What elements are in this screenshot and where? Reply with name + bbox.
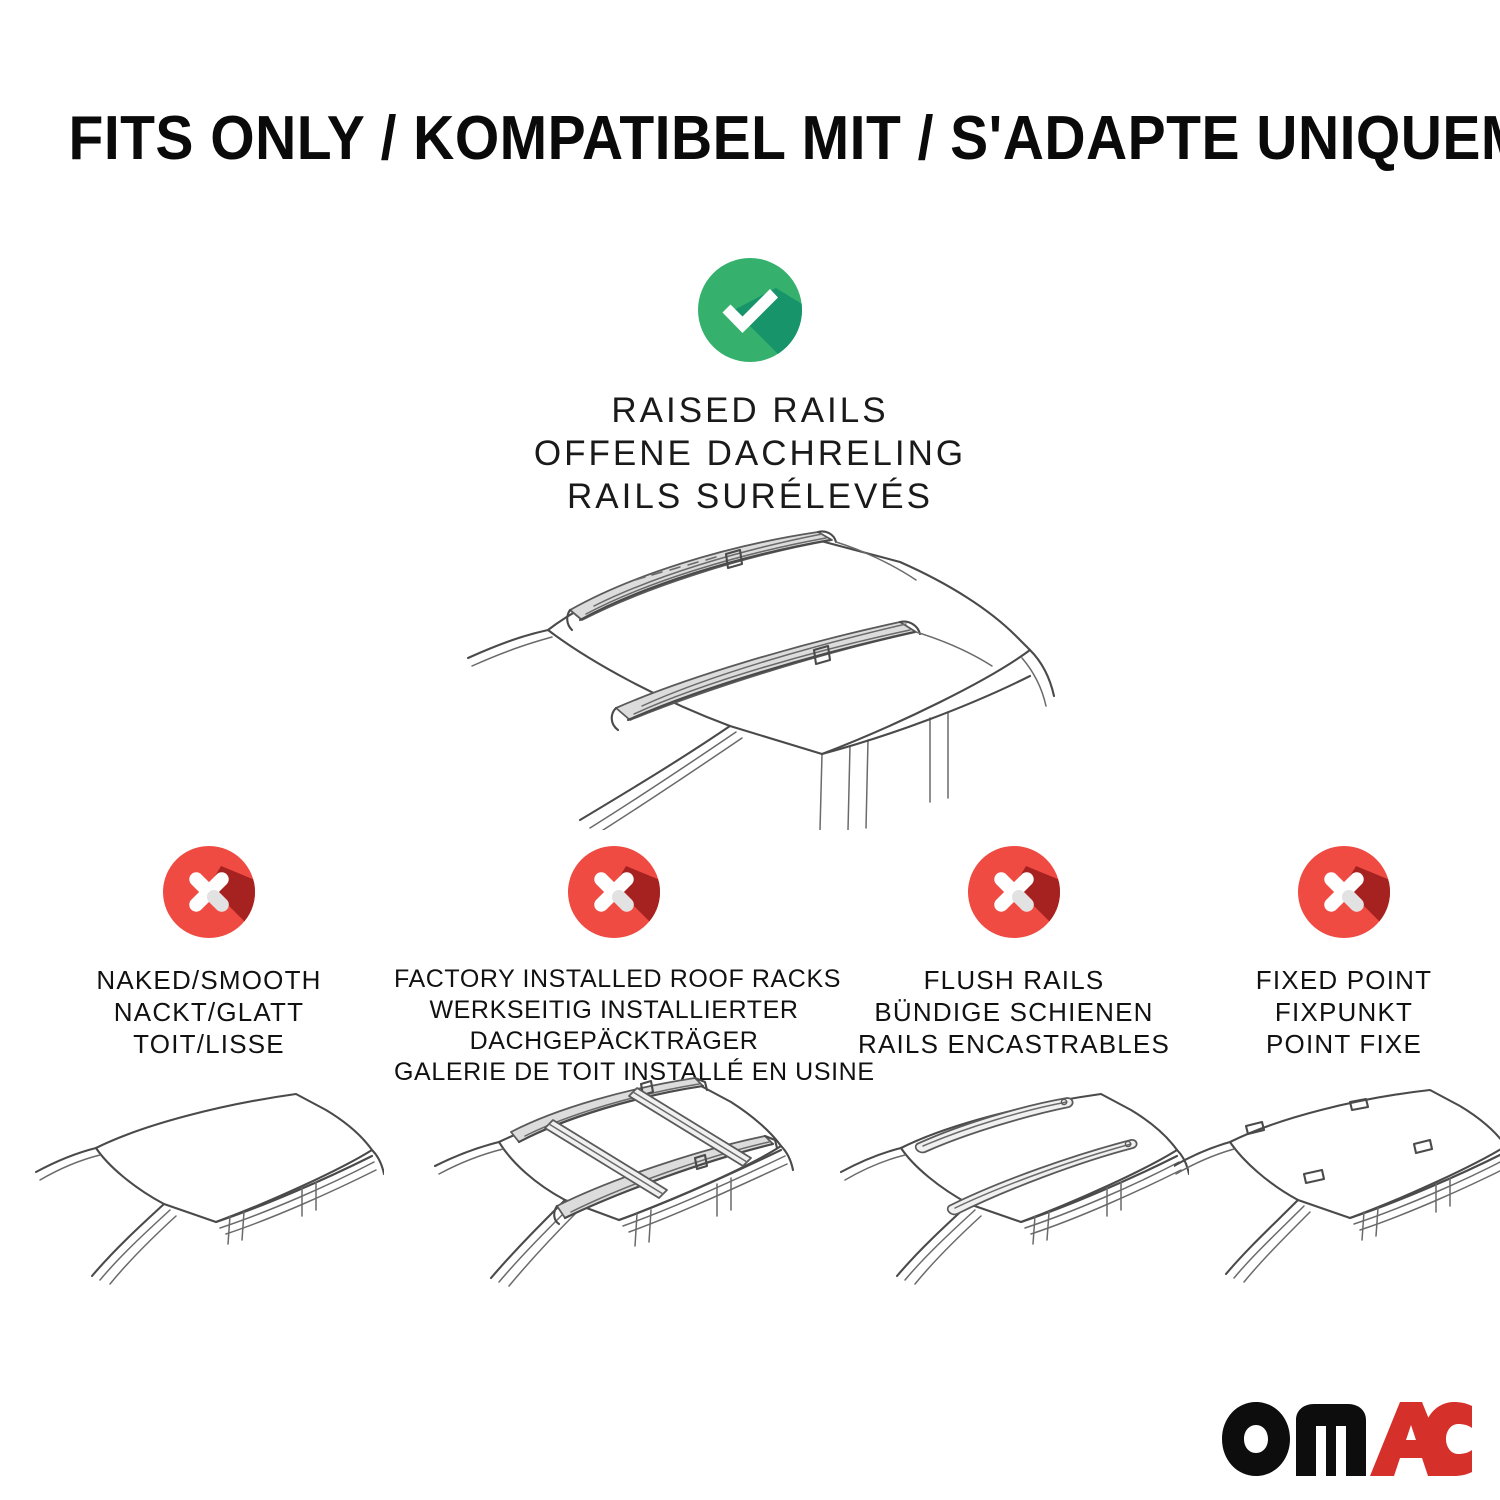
- incompatible-labels-factory-roof-racks: FACTORY INSTALLED ROOF RACKS WERKSEITIG …: [394, 964, 834, 1088]
- omac-logo-mark: [1220, 1400, 1472, 1478]
- incompatible-labels-fixed-point: FIXED POINT FIXPUNKT POINT FIXE: [1194, 964, 1494, 1060]
- compatible-label-1: OFFENE DACHRELING: [0, 432, 1500, 475]
- incompatible-item-fixed-point: FIXED POINT FIXPUNKT POINT FIXE: [1194, 846, 1494, 1060]
- car-roof-raised-rails-illustration: [430, 510, 1070, 830]
- x-glyph: [568, 846, 660, 938]
- page-title: FITS ONLY / KOMPATIBEL MIT / S'ADAPTE UN…: [0, 104, 1500, 174]
- naked-smooth-drawing: [34, 1082, 384, 1297]
- fixed-point-drawing: [1174, 1082, 1500, 1297]
- flush-rails-drawing: [839, 1082, 1189, 1297]
- x-glyph: [163, 846, 255, 938]
- icon-wrap: [834, 846, 1194, 958]
- incompatible-label-2-2: RAILS ENCASTRABLES: [834, 1028, 1194, 1060]
- omac-logo: [1220, 1400, 1472, 1478]
- car-roof-naked-smooth-illustration: [34, 1082, 384, 1297]
- incompatible-label-1-2: DACHGEPÄCKTRÄGER: [394, 1026, 834, 1057]
- omac-letter-o: [1222, 1402, 1290, 1476]
- incompatible-label-0-1: NACKT/GLATT: [14, 996, 404, 1028]
- car-roof-factory-roof-racks-illustration: [429, 1074, 799, 1299]
- incompatible-label-0-2: TOIT/LISSE: [14, 1028, 404, 1060]
- icon-wrap: [1194, 846, 1494, 958]
- x-circle-icon: [1298, 846, 1390, 938]
- icon-wrap: [14, 846, 404, 958]
- fitment-infographic: FITS ONLY / KOMPATIBEL MIT / S'ADAPTE UN…: [0, 0, 1500, 1500]
- page-title-text: FITS ONLY / KOMPATIBEL MIT / S'ADAPTE UN…: [69, 104, 1500, 174]
- incompatible-label-2-0: FLUSH RAILS: [834, 964, 1194, 996]
- incompatible-label-3-0: FIXED POINT: [1194, 964, 1494, 996]
- incompatible-labels-naked-smooth: NAKED/SMOOTH NACKT/GLATT TOIT/LISSE: [14, 964, 404, 1060]
- incompatible-item-factory-roof-racks: FACTORY INSTALLED ROOF RACKS WERKSEITIG …: [394, 846, 834, 1088]
- compatible-label-0: RAISED RAILS: [0, 389, 1500, 432]
- incompatible-labels-flush-rails: FLUSH RAILS BÜNDIGE SCHIENEN RAILS ENCAS…: [834, 964, 1194, 1060]
- compatible-labels: RAISED RAILS OFFENE DACHRELING RAILS SUR…: [0, 389, 1500, 518]
- raised-rails-drawing: [430, 510, 1070, 830]
- incompatible-section: NAKED/SMOOTH NACKT/GLATT TOIT/LISSE: [0, 846, 1500, 1306]
- incompatible-label-2-1: BÜNDIGE SCHIENEN: [834, 996, 1194, 1028]
- icon-wrap: [394, 846, 834, 958]
- incompatible-label-0-0: NAKED/SMOOTH: [14, 964, 404, 996]
- incompatible-item-flush-rails: FLUSH RAILS BÜNDIGE SCHIENEN RAILS ENCAS…: [834, 846, 1194, 1060]
- car-roof-fixed-point-illustration: [1174, 1082, 1500, 1297]
- check-glyph: [698, 258, 802, 362]
- x-glyph: [1298, 846, 1390, 938]
- incompatible-item-naked-smooth: NAKED/SMOOTH NACKT/GLATT TOIT/LISSE: [14, 846, 404, 1060]
- x-circle-icon: [968, 846, 1060, 938]
- compatible-section: RAISED RAILS OFFENE DACHRELING RAILS SUR…: [0, 258, 1500, 518]
- check-circle-icon: [698, 258, 802, 362]
- car-roof-flush-rails-illustration: [839, 1082, 1189, 1297]
- x-glyph: [968, 846, 1060, 938]
- factory-roof-racks-drawing: [429, 1074, 799, 1299]
- incompatible-label-1-0: FACTORY INSTALLED ROOF RACKS: [394, 964, 834, 995]
- x-circle-icon: [163, 846, 255, 938]
- omac-letter-m: [1296, 1404, 1366, 1476]
- incompatible-label-3-1: FIXPUNKT: [1194, 996, 1494, 1028]
- x-circle-icon: [568, 846, 660, 938]
- incompatible-label-3-2: POINT FIXE: [1194, 1028, 1494, 1060]
- incompatible-label-1-1: WERKSEITIG INSTALLIERTER: [394, 995, 834, 1026]
